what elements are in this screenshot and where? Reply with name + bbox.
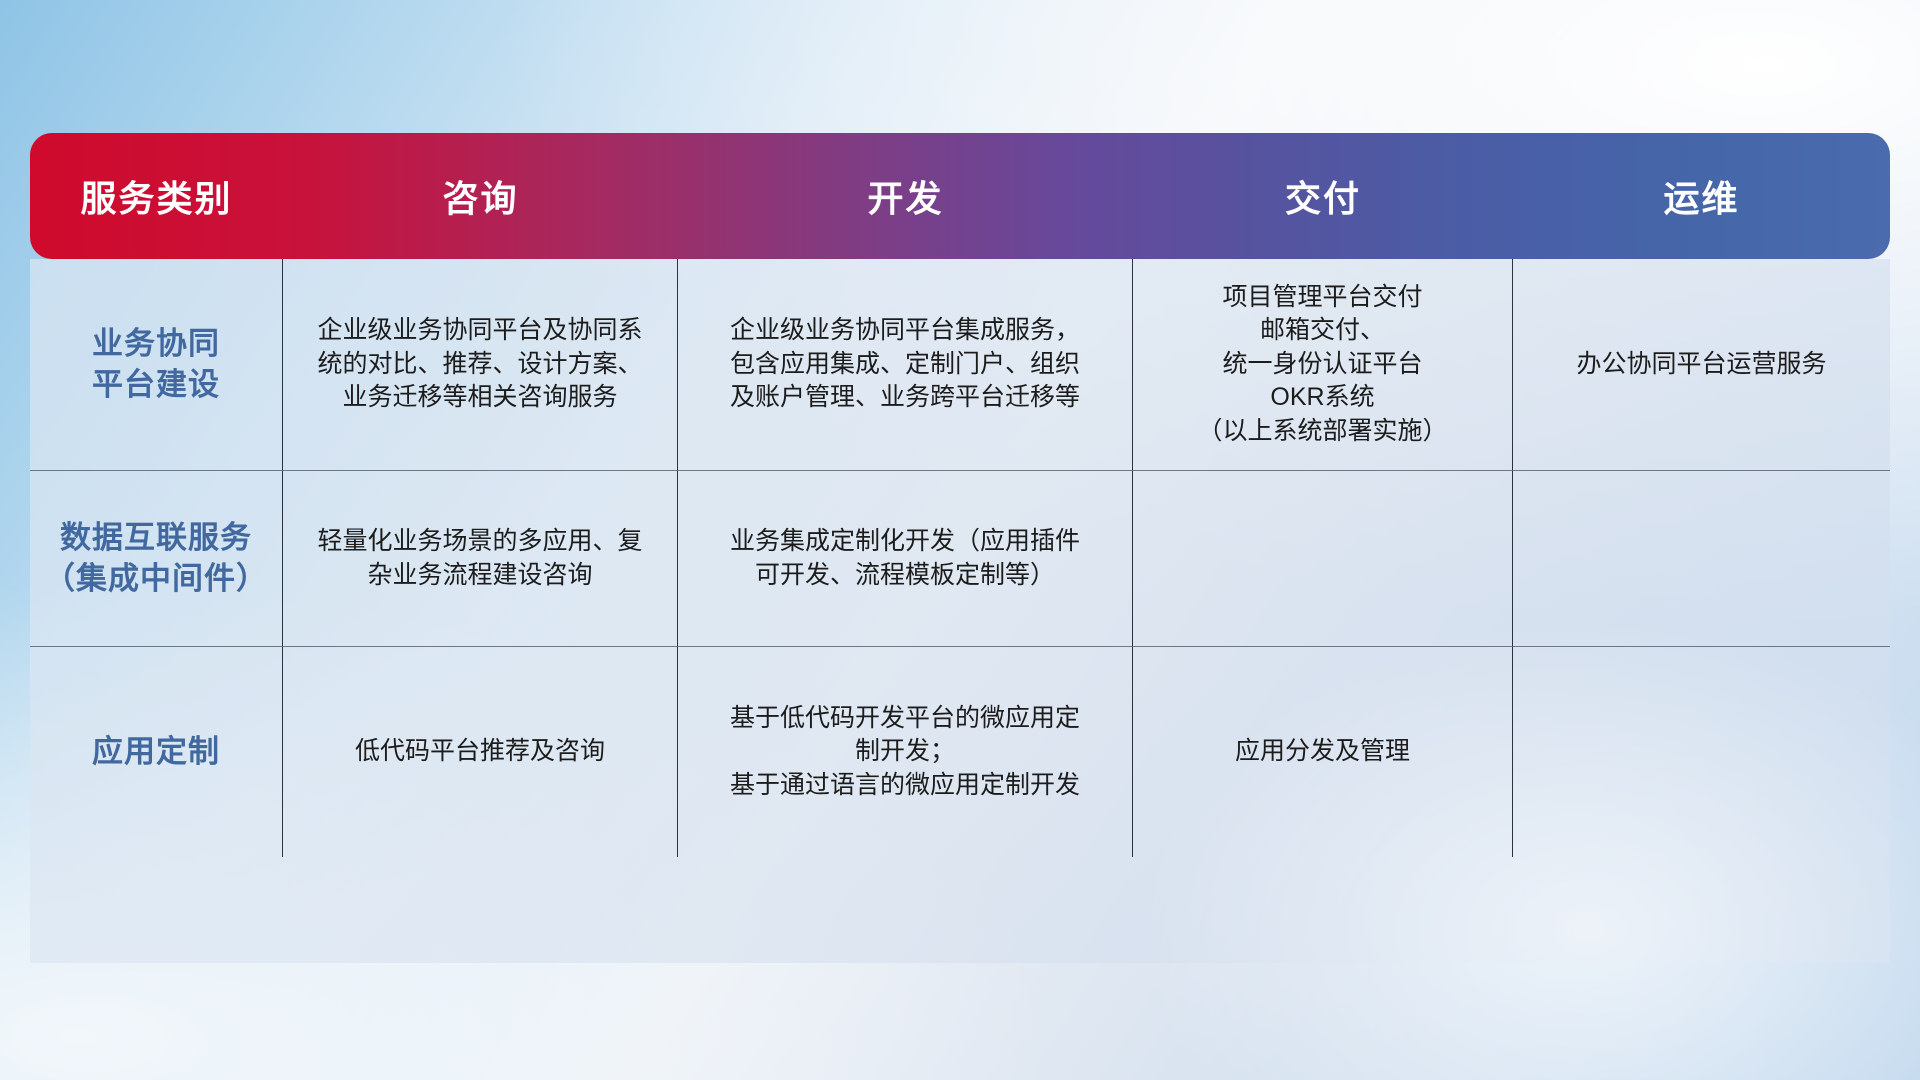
column-header-service-category: 服务类别 (30, 133, 283, 259)
row-label-business-collaboration: 业务协同 平台建设 (30, 259, 283, 471)
cell-consulting-row1: 企业级业务协同平台及协同系 统的对比、推荐、设计方案、 业务迁移等相关咨询服务 (283, 259, 678, 471)
column-header-delivery: 交付 (1133, 133, 1513, 259)
column-header-consulting: 咨询 (283, 133, 678, 259)
table-row: 业务协同 平台建设 企业级业务协同平台及协同系 统的对比、推荐、设计方案、 业务… (30, 259, 1890, 471)
cell-consulting-row3: 低代码平台推荐及咨询 (283, 647, 678, 857)
cell-delivery-row3: 应用分发及管理 (1133, 647, 1513, 857)
cell-consulting-row2: 轻量化业务场景的多应用、复 杂业务流程建设咨询 (283, 471, 678, 647)
table-row: 数据互联服务 （集成中间件） 轻量化业务场景的多应用、复 杂业务流程建设咨询 业… (30, 471, 1890, 647)
table-row: 应用定制 低代码平台推荐及咨询 基于低代码开发平台的微应用定 制开发； 基于通过… (30, 647, 1890, 857)
row-label-data-interconnection: 数据互联服务 （集成中间件） (30, 471, 283, 647)
cell-delivery-row2 (1133, 471, 1513, 647)
cell-operations-row3 (1513, 647, 1890, 857)
cell-development-row3: 基于低代码开发平台的微应用定 制开发； 基于通过语言的微应用定制开发 (678, 647, 1133, 857)
table-head: 服务类别 咨询 开发 交付 运维 (30, 133, 1890, 259)
column-header-operations: 运维 (1513, 133, 1890, 259)
cell-development-row2: 业务集成定制化开发（应用插件 可开发、流程模板定制等） (678, 471, 1133, 647)
slide-canvas: 服务类别 咨询 开发 交付 运维 业务协同 平台建设 企业级业务协同平台及协同系… (0, 0, 1920, 1080)
cell-delivery-row1: 项目管理平台交付 邮箱交付、 统一身份认证平台 OKR系统 （以上系统部署实施） (1133, 259, 1513, 471)
cell-development-row1: 企业级业务协同平台集成服务， 包含应用集成、定制门户、组织 及账户管理、业务跨平… (678, 259, 1133, 471)
row-label-application-customization: 应用定制 (30, 647, 283, 857)
header-row: 服务类别 咨询 开发 交付 运维 (30, 133, 1890, 259)
table-body: 业务协同 平台建设 企业级业务协同平台及协同系 统的对比、推荐、设计方案、 业务… (30, 259, 1890, 857)
cell-operations-row1: 办公协同平台运营服务 (1513, 259, 1890, 471)
cell-operations-row2 (1513, 471, 1890, 647)
service-matrix: 服务类别 咨询 开发 交付 运维 业务协同 平台建设 企业级业务协同平台及协同系… (30, 133, 1890, 857)
service-matrix-table: 服务类别 咨询 开发 交付 运维 业务协同 平台建设 企业级业务协同平台及协同系… (30, 133, 1890, 963)
column-header-development: 开发 (678, 133, 1133, 259)
